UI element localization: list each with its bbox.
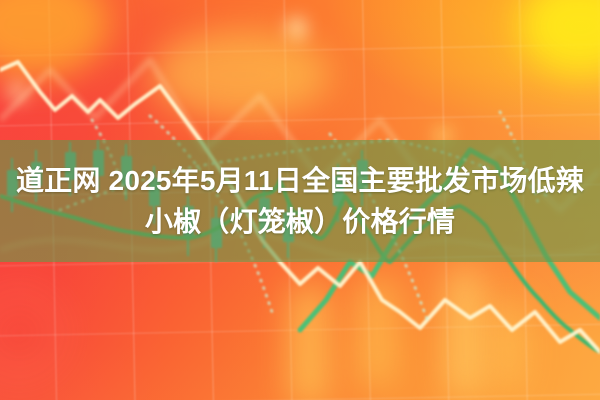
title-block: 道正网 2025年5月11日全国主要批发市场低辣 小椒（灯笼椒）价格行情: [0, 140, 600, 262]
title-line-2: 小椒（灯笼椒）价格行情: [145, 201, 455, 242]
title-line-1: 道正网 2025年5月11日全国主要批发市场低辣: [16, 160, 584, 201]
thumbnail-image: 道正网 2025年5月11日全国主要批发市场低辣 小椒（灯笼椒）价格行情: [0, 0, 600, 400]
